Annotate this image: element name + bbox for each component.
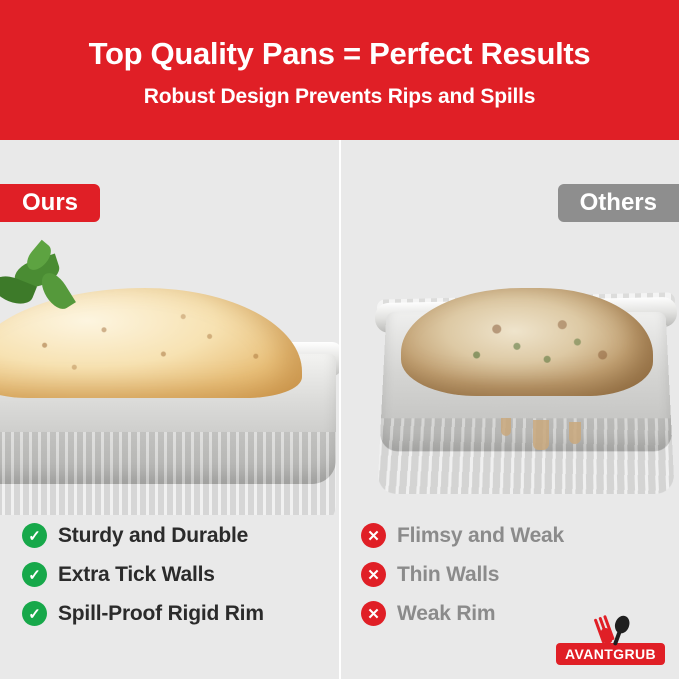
cross-circle-icon: ✕ (361, 562, 386, 587)
foil-tray-illustration (383, 270, 669, 475)
feature-label: Weak Rim (397, 602, 495, 626)
food-spill (533, 420, 549, 450)
feature-label: Thin Walls (397, 563, 499, 587)
header-banner: Top Quality Pans = Perfect Results Robus… (0, 0, 679, 140)
pan-ribs (0, 432, 336, 515)
badge-ours: Ours (0, 184, 100, 222)
feature-label: Spill-Proof Rigid Rim (58, 602, 264, 626)
tray-ribs (377, 418, 674, 493)
food-spill (569, 422, 581, 444)
check-circle-icon: ✓ (22, 601, 47, 626)
panel-others: Others ✕ Flimsy an (339, 140, 679, 679)
page-title: Top Quality Pans = Perfect Results (89, 37, 591, 71)
feature-label: Sturdy and Durable (58, 524, 248, 548)
panel-ours: Ours (0, 140, 339, 679)
feature-label: Flimsy and Weak (397, 524, 564, 548)
check-circle-icon: ✓ (22, 562, 47, 587)
feature-label: Extra Tick Walls (58, 563, 215, 587)
comparison-infographic: Top Quality Pans = Perfect Results Robus… (0, 0, 679, 679)
list-item: ✓ Spill-Proof Rigid Rim (22, 601, 339, 626)
list-item: ✕ Thin Walls (361, 562, 679, 587)
fork-and-spoon-icon (572, 612, 650, 646)
page-subtitle: Robust Design Prevents Rips and Spills (144, 85, 535, 109)
list-item: ✓ Sturdy and Durable (22, 523, 339, 548)
cross-circle-icon: ✕ (361, 523, 386, 548)
list-item: ✕ Flimsy and Weak (361, 523, 679, 548)
mint-garnish-icon (0, 252, 104, 322)
feature-list-ours: ✓ Sturdy and Durable ✓ Extra Tick Walls … (0, 515, 339, 640)
badge-others: Others (558, 184, 679, 222)
cross-circle-icon: ✕ (361, 601, 386, 626)
list-item: ✓ Extra Tick Walls (22, 562, 339, 587)
check-circle-icon: ✓ (22, 523, 47, 548)
brand-logo: AVANTGRUB (556, 612, 665, 665)
panel-divider (339, 140, 341, 679)
food-spill (501, 418, 511, 436)
loaf-pan-illustration (0, 308, 336, 508)
brand-wordmark: AVANTGRUB (556, 643, 665, 665)
